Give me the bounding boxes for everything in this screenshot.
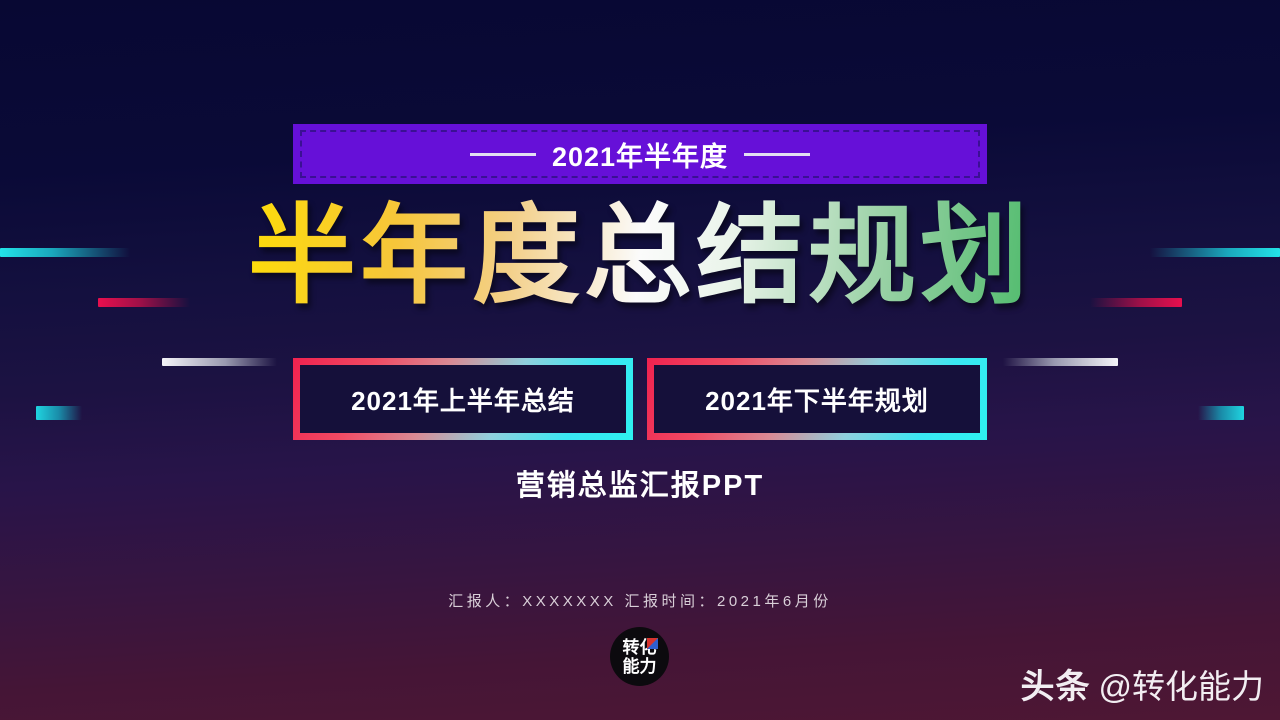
cyan-streak-left-lower	[36, 406, 82, 420]
logo-line-top: 转化	[623, 639, 657, 656]
subtitle-box-first-half-label: 2021年上半年总结	[351, 381, 575, 418]
subtitle-box-second-half-label: 2021年下半年规划	[705, 381, 929, 418]
subtitle-box-first-half-inner: 2021年上半年总结	[300, 365, 626, 433]
reporter-info-line: 汇报人：XXXXXXX 汇报时间：2021年6月份	[0, 590, 1280, 611]
eyebrow-banner: 2021年半年度	[293, 124, 987, 184]
eyebrow-inner: 2021年半年度	[470, 135, 810, 174]
cyan-streak-right-lower	[1198, 406, 1244, 420]
eyebrow-text: 2021年半年度	[552, 135, 728, 174]
page-title: 半年度总结规划	[0, 196, 1280, 317]
watermark-handle: @转化能力	[1099, 660, 1265, 708]
rule-right-icon	[744, 153, 810, 156]
white-streak-left	[162, 358, 277, 366]
presentation-slide: 2021年半年度 半年度总结规划 2021年上半年总结 2021年下半年规划 营…	[0, 0, 1280, 720]
white-streak-right	[1003, 358, 1118, 366]
watermark-brand: 头条	[1021, 659, 1091, 708]
brand-logo-badge: 转化 能力	[610, 627, 669, 686]
subtitle-box-row: 2021年上半年总结 2021年下半年规划	[293, 358, 987, 440]
rule-left-icon	[470, 153, 536, 156]
watermark: 头条 @转化能力	[1021, 659, 1265, 708]
logo-line-bottom: 能力	[623, 658, 657, 675]
subtitle-box-second-half-inner: 2021年下半年规划	[654, 365, 980, 433]
logo-accent-icon	[647, 638, 658, 649]
subtitle-box-first-half[interactable]: 2021年上半年总结	[293, 358, 633, 440]
sub-headline: 营销总监汇报PPT	[0, 462, 1280, 504]
subtitle-box-second-half[interactable]: 2021年下半年规划	[647, 358, 987, 440]
